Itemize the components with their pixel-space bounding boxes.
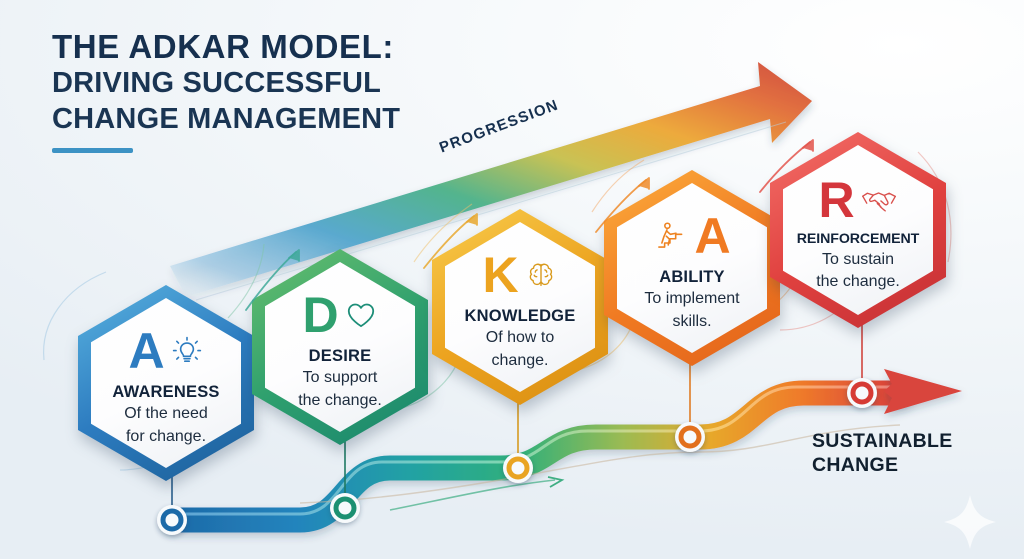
title-underline-rule — [52, 148, 133, 153]
letter-row: D — [264, 288, 416, 342]
stage-name: ABILITY — [616, 268, 768, 286]
stage-desc-line-2: the change. — [782, 272, 934, 291]
stage-content: R REINFORCEMENT To sustain the change. — [782, 169, 934, 292]
stairs-climb-icon — [654, 219, 688, 253]
stage-name: KNOWLEDGE — [444, 307, 596, 325]
stage-letter: R — [818, 175, 853, 225]
stage-desc-line-1: To support — [264, 368, 416, 387]
infographic-canvas: THE ADKAR MODEL: DRIVING SUCCESSFUL CHAN… — [0, 0, 1024, 559]
page-title-line-2: DRIVING SUCCESSFUL — [52, 66, 400, 101]
stage-desc-line-1: To implement — [616, 289, 768, 308]
letter-row: A — [616, 209, 768, 263]
stage-desc-line-1: To sustain — [782, 250, 934, 269]
stage-content: A ABILITY To implement skills. — [616, 205, 768, 331]
stage-card-awareness[interactable]: A AWARENESS Of the need for change. — [78, 285, 254, 481]
brain-icon — [524, 258, 558, 292]
title-block: THE ADKAR MODEL: DRIVING SUCCESSFUL CHAN… — [52, 28, 400, 153]
stage-desc-line-2: the change. — [264, 391, 416, 410]
stage-letter: D — [302, 290, 337, 340]
heart-icon — [344, 298, 378, 332]
letter-row: R — [782, 173, 934, 227]
page-title-line-3: CHANGE MANAGEMENT — [52, 102, 400, 137]
stage-content: D DESIRE To support the change. — [264, 284, 416, 410]
page-title-line-1: THE ADKAR MODEL: — [52, 28, 400, 66]
outcome-label-line-2: CHANGE — [812, 454, 953, 478]
stage-desc-line-1: Of the need — [90, 404, 242, 423]
stage-content: K KNOWLEDGE Of how to change. — [444, 244, 596, 370]
outcome-label-line-1: SUSTAINABLE — [812, 430, 953, 454]
stage-name: DESIRE — [264, 347, 416, 365]
handshake-icon — [860, 181, 898, 219]
stage-desc-line-2: for change. — [90, 427, 242, 446]
stage-name: REINFORCEMENT — [782, 232, 934, 248]
stage-card-knowledge[interactable]: K KNOWLEDGE Of how to change. — [432, 209, 608, 405]
stage-letter: A — [694, 211, 729, 261]
stage-name: AWARENESS — [90, 383, 242, 401]
stage-content: A AWARENESS Of the need for change. — [90, 320, 242, 446]
outcome-label: SUSTAINABLE CHANGE — [812, 430, 953, 478]
stage-desc-line-2: change. — [444, 351, 596, 370]
letter-row: A — [90, 324, 242, 378]
lightbulb-icon — [170, 334, 204, 368]
stage-card-ability[interactable]: A ABILITY To implement skills. — [604, 170, 780, 366]
stage-card-reinforcement[interactable]: R REINFORCEMENT To sustain the change. — [770, 132, 946, 328]
stage-desc-line-2: skills. — [616, 312, 768, 331]
stage-letter: A — [128, 326, 163, 376]
stage-card-desire[interactable]: D DESIRE To support the change. — [252, 249, 428, 445]
stage-letter: K — [482, 250, 517, 300]
stage-desc-line-1: Of how to — [444, 328, 596, 347]
letter-row: K — [444, 248, 596, 302]
